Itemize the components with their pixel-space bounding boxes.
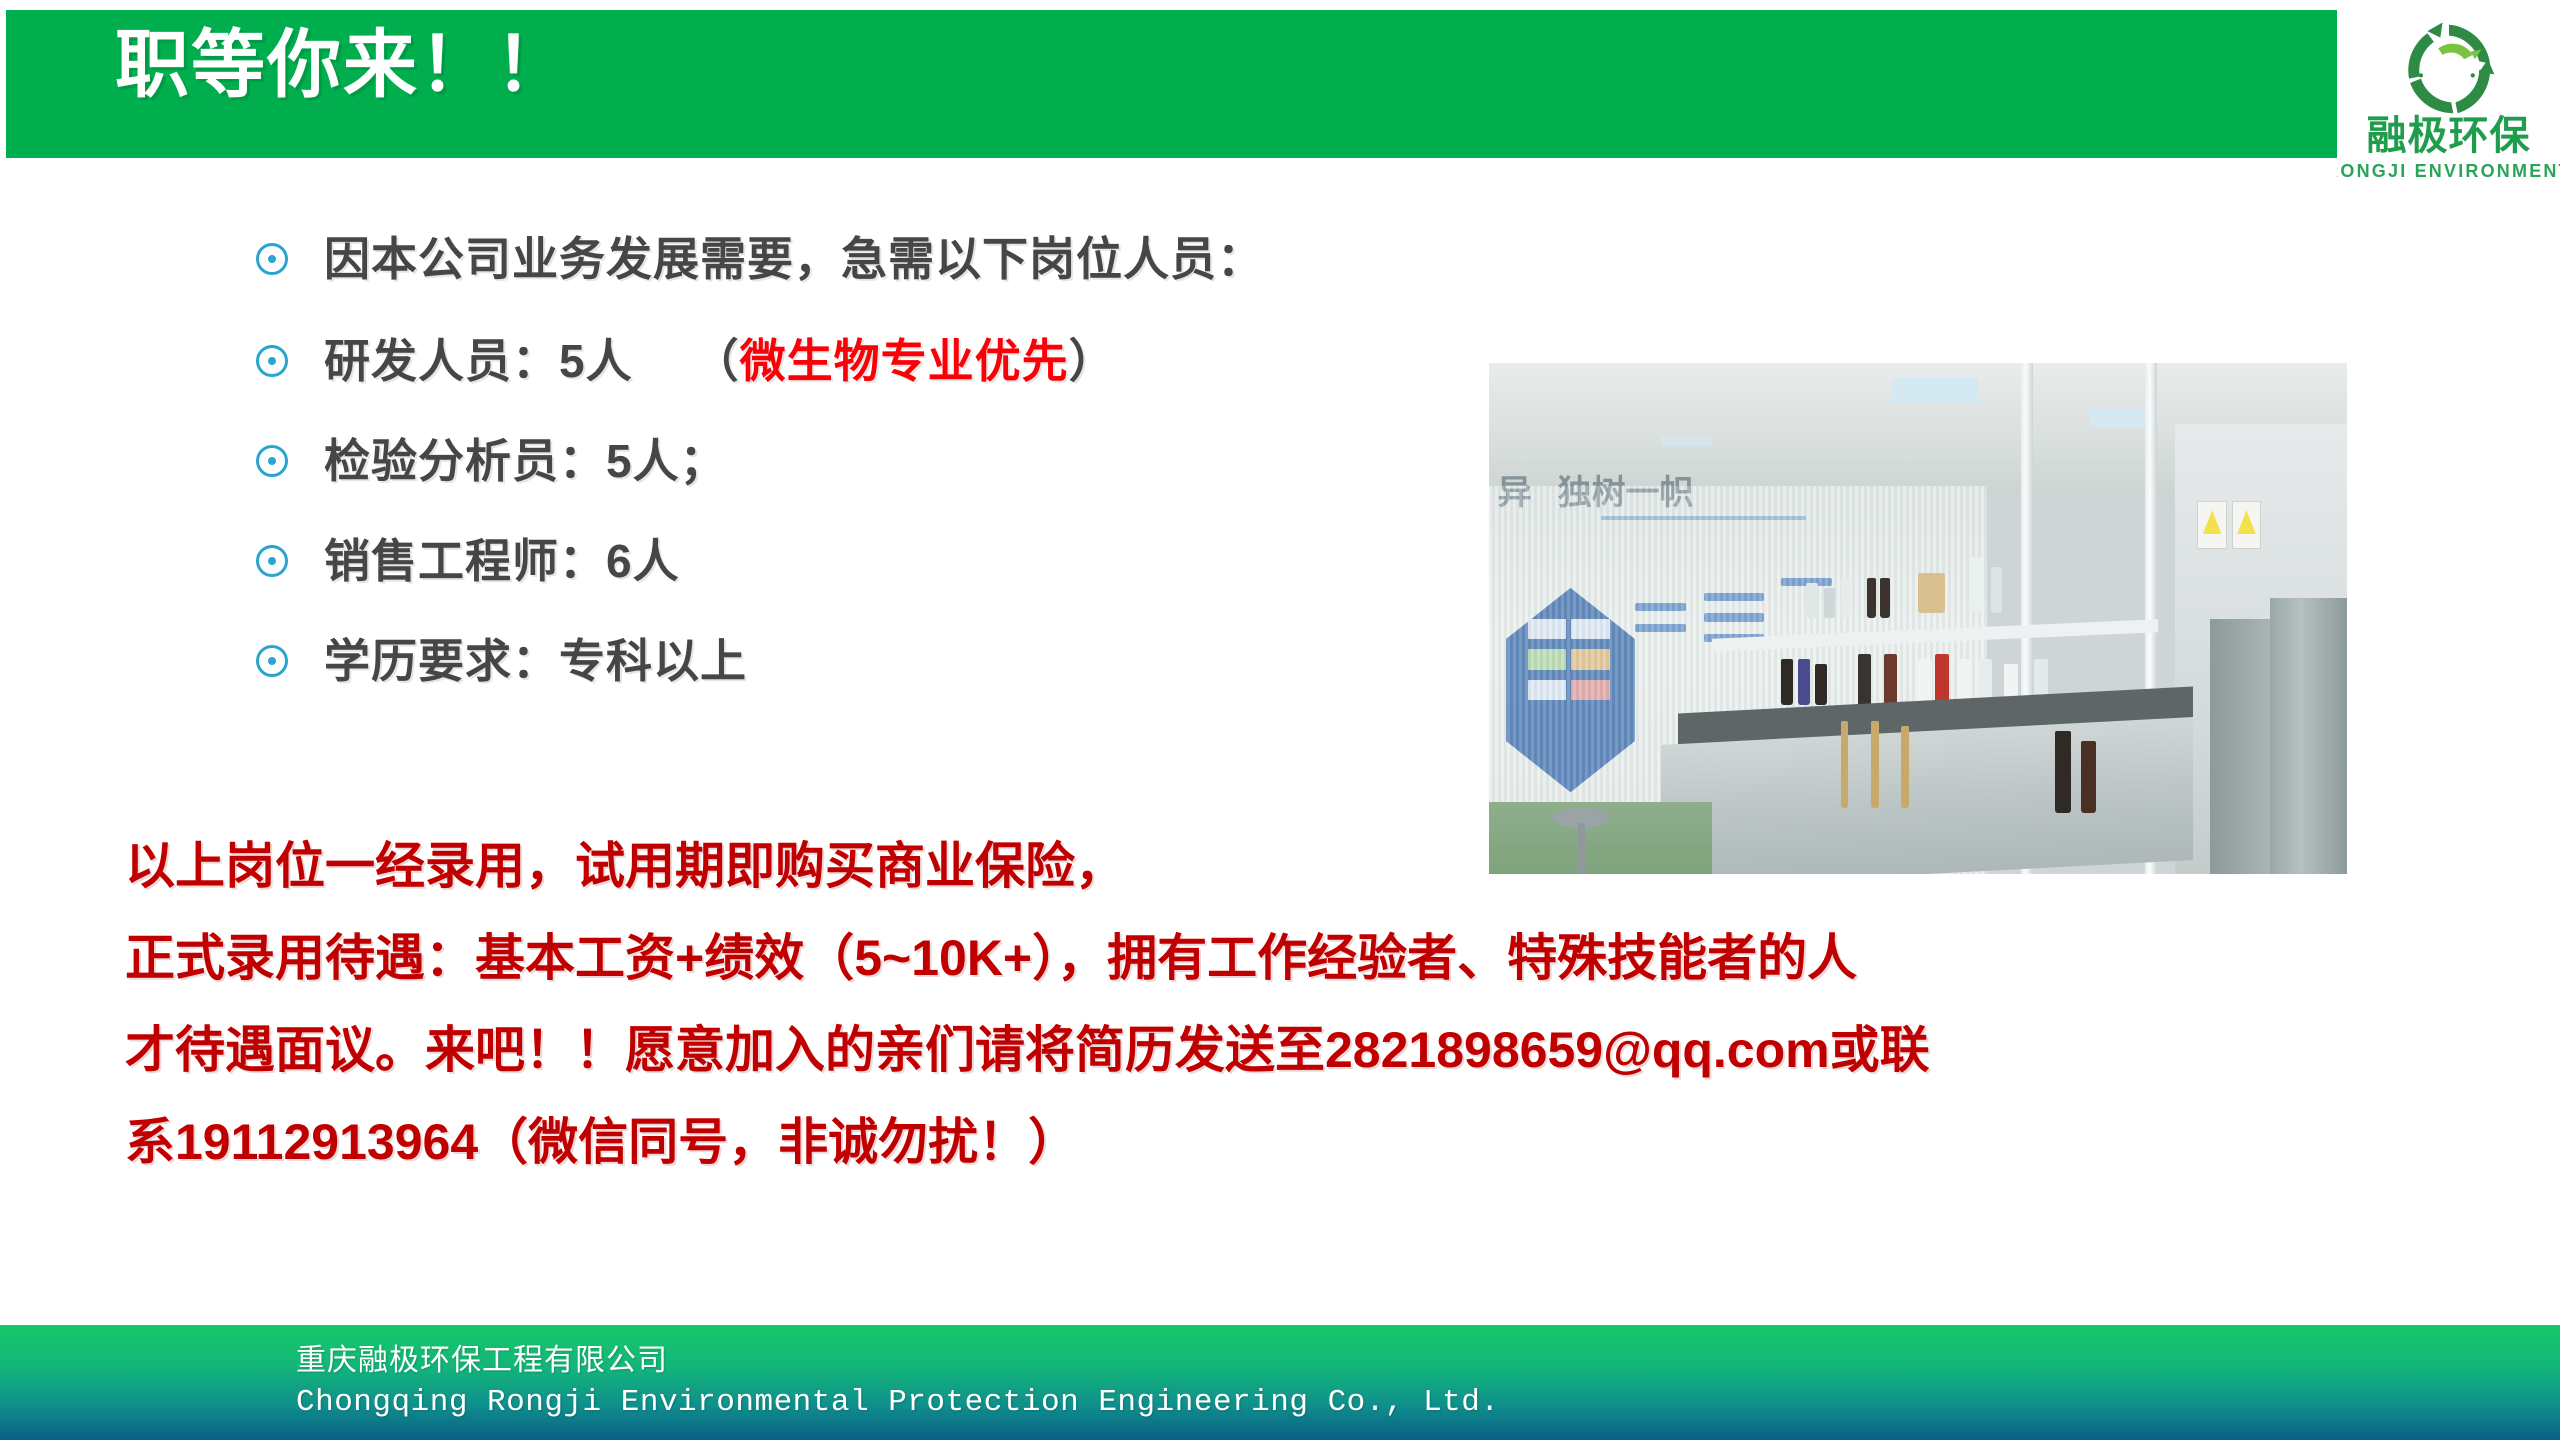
rnd-highlight: 微生物专业优先 bbox=[740, 335, 1069, 387]
list-item: 销售工程师：6人 bbox=[256, 524, 1486, 598]
list-item: 检验分析员：5人； bbox=[256, 424, 1486, 498]
ceiling-light-icon bbox=[2090, 409, 2150, 427]
paragraph-line-1: 以上岗位一经录用，试用期即购买商业保险， bbox=[125, 820, 2425, 912]
paragraph-line-3: 才待遇面议。来吧！！愿意加入的亲们请将简历发送至2821898659@qq.co… bbox=[125, 1004, 2425, 1096]
logo-name-cn: 融极环保 bbox=[2367, 116, 2531, 156]
lab-bottle bbox=[1824, 588, 1835, 619]
circle-dot-bullet-icon bbox=[256, 445, 288, 477]
circle-dot-bullet-icon bbox=[256, 645, 288, 677]
paren-close: ） bbox=[1069, 335, 1116, 387]
bullet-label-intro: 因本公司业务发展需要，急需以下岗位人员： bbox=[324, 236, 1264, 282]
circle-dot-bullet-icon bbox=[256, 243, 288, 275]
rnd-prefix: 研发人员：5人 bbox=[324, 335, 633, 387]
logo-name-en: RONGJI ENVIRONMENT bbox=[2337, 162, 2560, 180]
list-item: 因本公司业务发展需要，急需以下岗位人员： bbox=[256, 222, 1486, 296]
lab-bottle bbox=[2055, 731, 2070, 813]
ceiling-light-icon bbox=[1661, 435, 1712, 448]
bullet-label-rnd: 研发人员：5人（微生物专业优先） bbox=[324, 338, 1116, 384]
list-item: 学历要求：专科以上 bbox=[256, 624, 1486, 698]
list-item: 研发人员：5人（微生物专业优先） bbox=[256, 324, 1486, 398]
company-logo: 融极环保 RONGJI ENVIRONMENT bbox=[2337, 6, 2560, 196]
burette bbox=[1871, 721, 1879, 808]
recruitment-details-paragraph: 以上岗位一经录用，试用期即购买商业保险， 正式录用待遇：基本工资+绩效（5~10… bbox=[125, 820, 2425, 1188]
hazard-sign-icon bbox=[2197, 501, 2226, 549]
burette bbox=[1901, 726, 1909, 808]
footer-company-en: Chongqing Rongji Environmental Protectio… bbox=[296, 1387, 1500, 1418]
lab-bottle bbox=[1841, 578, 1850, 619]
bullet-label-sales: 销售工程师：6人 bbox=[324, 538, 680, 584]
paren-open: （ bbox=[693, 335, 740, 387]
recycle-circle-icon bbox=[2395, 16, 2503, 124]
circle-dot-bullet-icon bbox=[256, 345, 288, 377]
footer-company-cn: 重庆融极环保工程有限公司 bbox=[296, 1346, 668, 1376]
lab-bottle bbox=[1781, 659, 1793, 705]
lab-bottle bbox=[1880, 578, 1889, 619]
lab-bottle bbox=[1806, 583, 1817, 619]
lab-bottle bbox=[1798, 659, 1810, 705]
burette bbox=[1841, 721, 1849, 808]
laboratory-team-photo: 异 独树一帜 bbox=[1489, 363, 2347, 874]
hazard-sign-icon bbox=[2232, 501, 2261, 549]
paragraph-line-4: 系19112913964（微信同号，非诚勿扰！） bbox=[125, 1096, 2425, 1188]
lab-bottle bbox=[1867, 578, 1876, 619]
footer-gradient-bar bbox=[0, 1325, 2560, 1440]
lab-bottle bbox=[2081, 741, 2096, 813]
sample-rack bbox=[1918, 573, 1945, 614]
paragraph-line-2: 正式录用待遇：基本工资+绩效（5~10K+），拥有工作经验者、特殊技能者的人 bbox=[125, 912, 2425, 1004]
bullet-label-analyst: 检验分析员：5人； bbox=[324, 438, 727, 484]
lab-bottle bbox=[1815, 664, 1827, 705]
page-title: 职等你来！！ bbox=[115, 28, 571, 102]
job-bullet-list: 因本公司业务发展需要，急需以下岗位人员： 研发人员：5人（微生物专业优先） 检验… bbox=[256, 200, 1486, 698]
lab-bottle bbox=[1969, 557, 1983, 613]
lab-bottle bbox=[1991, 567, 2002, 613]
lab-bottle bbox=[1858, 654, 1871, 710]
ceiling-light-icon bbox=[1892, 378, 1978, 404]
circle-dot-bullet-icon bbox=[256, 545, 288, 577]
bullet-label-education: 学历要求：专科以上 bbox=[324, 638, 747, 684]
